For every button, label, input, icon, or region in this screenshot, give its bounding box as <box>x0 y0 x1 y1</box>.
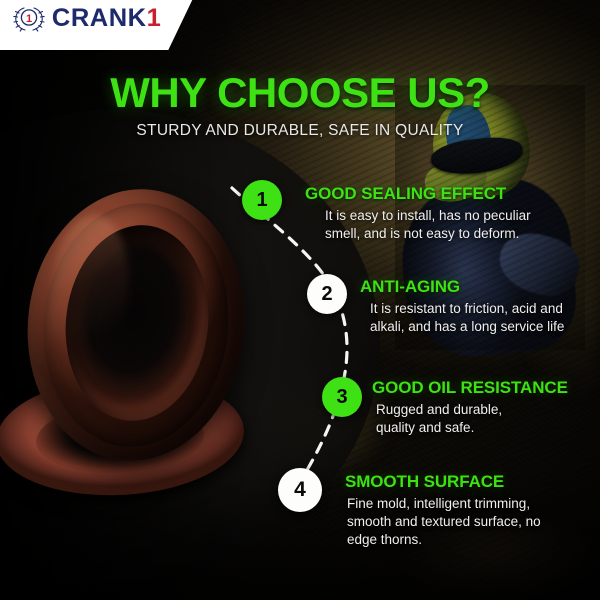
page-subtitle: STURDY AND DURABLE, SAFE IN QUALITY <box>0 122 600 140</box>
feature-number-1: 1 <box>256 189 267 212</box>
feature-desc-line: It is resistant to friction, acid and <box>370 300 564 318</box>
feature-title-4: SMOOTH SURFACE <box>345 473 541 492</box>
feature-title-2: ANTI-AGING <box>360 278 564 297</box>
svg-text:1: 1 <box>26 13 32 25</box>
brand-name-main: CRANK <box>52 4 147 32</box>
feature-desc-line: smooth and textured surface, no <box>347 513 541 531</box>
feature-description-3: Rugged and durable, quality and safe. <box>372 401 568 438</box>
infographic-canvas: 1 CRANK1 WHY CHOOSE US? STURDY AND DURAB… <box>0 0 600 600</box>
feature-number-4: 4 <box>294 478 306 502</box>
feature-item-2: ANTI-AGING It is resistant to friction, … <box>360 278 564 336</box>
feature-badge-2[interactable]: 2 <box>307 274 347 314</box>
feature-desc-line: quality and safe. <box>376 419 568 437</box>
feature-title-3: GOOD OIL RESISTANCE <box>372 379 568 398</box>
page-title: WHY CHOOSE US? <box>0 72 600 114</box>
feature-item-3: GOOD OIL RESISTANCE Rugged and durable, … <box>372 379 568 437</box>
brand-name-accent: 1 <box>147 4 162 32</box>
product-image-oil-seals <box>0 185 262 515</box>
feature-desc-line: It is easy to install, has no peculiar <box>325 207 531 225</box>
feature-desc-line: smell, and is not easy to deform. <box>325 225 531 243</box>
feature-desc-line: alkali, and has a long service life <box>370 318 564 336</box>
feature-description-4: Fine mold, intelligent trimming, smooth … <box>345 495 541 550</box>
feature-badge-1[interactable]: 1 <box>242 180 282 220</box>
feature-desc-line: Rugged and durable, <box>376 401 568 419</box>
feature-description-1: It is easy to install, has no peculiar s… <box>305 207 531 244</box>
feature-desc-line: Fine mold, intelligent trimming, <box>347 495 541 513</box>
brand-name: CRANK1 <box>52 6 161 31</box>
feature-number-3: 3 <box>336 386 347 409</box>
brand-logo-banner[interactable]: 1 CRANK1 <box>0 0 198 50</box>
feature-number-2: 2 <box>321 283 332 306</box>
feature-badge-3[interactable]: 3 <box>322 377 362 417</box>
feature-badge-4[interactable]: 4 <box>278 468 322 512</box>
laurel-wreath-number-one-icon: 1 <box>12 4 46 34</box>
feature-description-2: It is resistant to friction, acid and al… <box>360 300 564 337</box>
feature-item-1: GOOD SEALING EFFECT It is easy to instal… <box>305 185 531 243</box>
feature-title-1: GOOD SEALING EFFECT <box>305 185 531 204</box>
feature-desc-line: edge thorns. <box>347 531 541 549</box>
feature-item-4: SMOOTH SURFACE Fine mold, intelligent tr… <box>345 473 541 550</box>
